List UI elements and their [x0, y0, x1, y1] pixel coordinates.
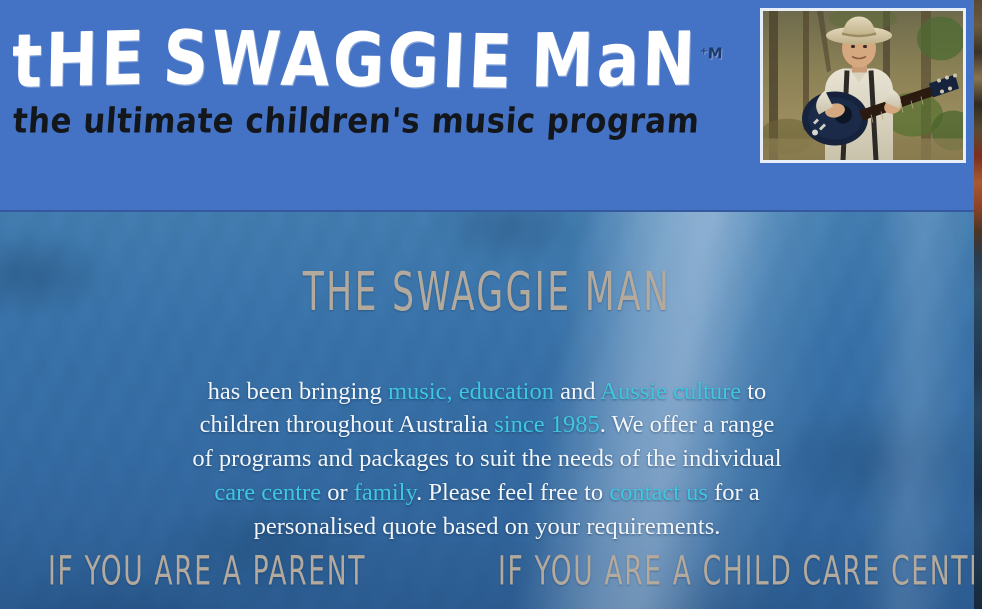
page-root: tHESWAGGIEMaN⁺M the ultimate children's … [0, 0, 982, 609]
logo-tagline: the ultimate children's music program [12, 105, 766, 140]
content-wrapper: THE SWAGGIE MAN has been bringing music,… [0, 212, 974, 609]
site-logo[interactable]: tHESWAGGIEMaN⁺M the ultimate children's … [14, 4, 744, 135]
trademark-icon: ⁺M [700, 47, 723, 62]
intro-paragraph: has been bringing music, education and A… [187, 375, 787, 544]
logo-word-man: MaN [530, 22, 699, 98]
cta-child-care-centre[interactable]: IF YOU ARE A CHILD CARE CENTRE [498, 552, 974, 592]
cta-row: IF YOU ARE A PARENT IF YOU ARE A CHILD C… [0, 552, 974, 609]
link-family[interactable]: family [354, 479, 416, 506]
main-content: THE SWAGGIE MAN has been bringing music,… [0, 212, 974, 609]
logo-word-swaggie: SWAGGIE [161, 21, 516, 100]
site-header: tHESWAGGIEMaN⁺M the ultimate children's … [0, 0, 974, 212]
header-photo [760, 8, 966, 163]
link-since-1985[interactable]: since 1985 [494, 411, 599, 438]
link-contact-us[interactable]: contact us [609, 479, 708, 506]
page-title: THE SWAGGIE MAN [97, 265, 876, 319]
cta-parent[interactable]: IF YOU ARE A PARENT [48, 552, 366, 592]
site-column: tHESWAGGIEMaN⁺M the ultimate children's … [0, 0, 974, 609]
intro-text-6: . Please feel free to [416, 479, 609, 506]
intro-text-2: and [554, 378, 600, 405]
link-care-centre[interactable]: care centre [214, 479, 321, 506]
link-music-education[interactable]: music, education [388, 378, 554, 405]
intro-text-1: has been bringing [208, 378, 388, 405]
page-background-sliver [974, 0, 982, 609]
logo-title: tHESWAGGIEMaN⁺M [11, 4, 744, 97]
logo-word-the: tHE [11, 21, 147, 99]
link-aussie-culture[interactable]: Aussie culture [600, 378, 741, 405]
swaggie-man-photo-image [763, 11, 963, 160]
intro-text-5: or [321, 479, 354, 506]
